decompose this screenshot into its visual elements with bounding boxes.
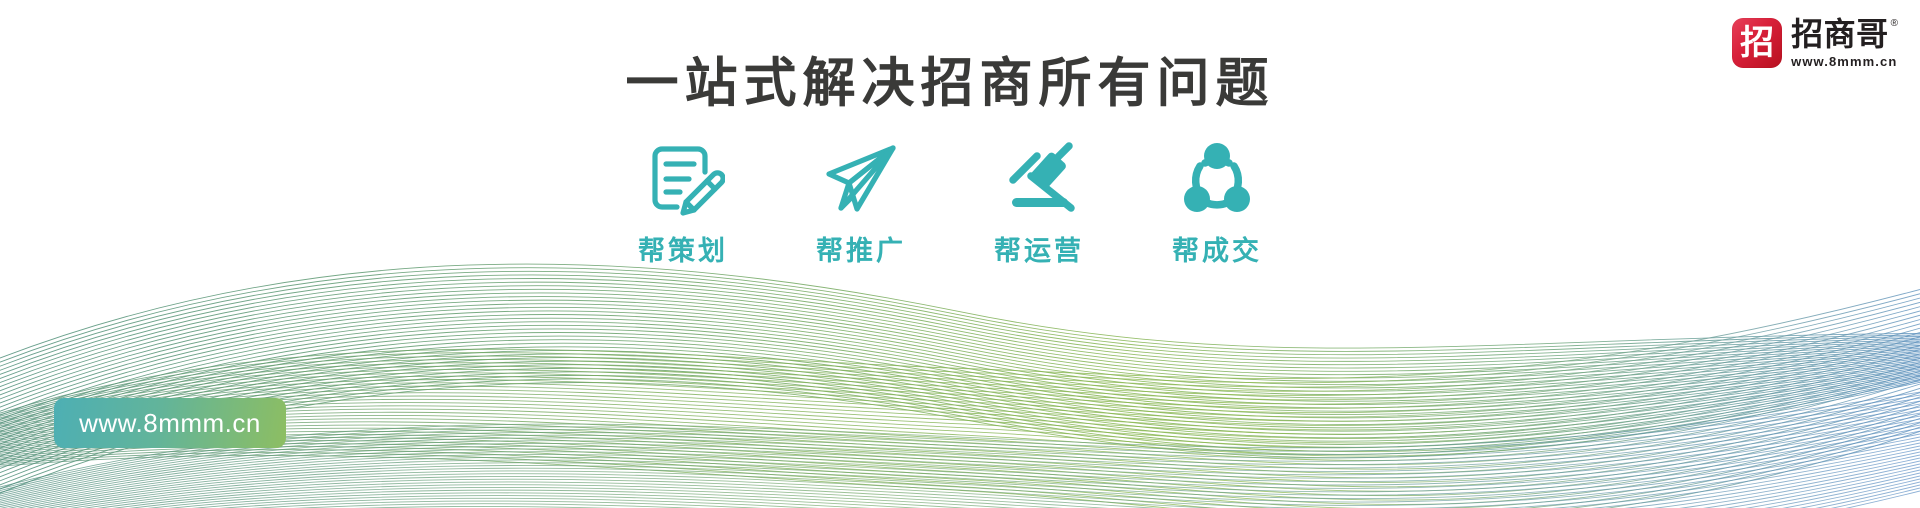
promo-banner: 招 招商哥 ® www.8mmm.cn 一站式解决招商所有问题: [0, 0, 1920, 508]
network-nodes-icon: [1175, 136, 1259, 220]
headline-text: 一站式解决招商所有问题: [626, 52, 1275, 116]
document-pencil-icon: [641, 136, 725, 220]
feature-list: 帮策划 帮推广: [0, 136, 1920, 265]
feature-label: 帮推广: [816, 238, 906, 265]
feature-item-deal[interactable]: 帮成交: [1157, 136, 1277, 265]
registered-trademark-icon: ®: [1891, 19, 1898, 29]
feature-label: 帮运营: [994, 238, 1084, 265]
feature-item-operation[interactable]: 帮运营: [979, 136, 1099, 265]
logo-wordmark-row: 招商哥 ®: [1791, 18, 1898, 50]
feature-item-promotion[interactable]: 帮推广: [801, 136, 921, 265]
feature-label: 帮成交: [1172, 238, 1262, 265]
paper-plane-icon: [819, 136, 903, 220]
page-title: 一站式解决招商所有问题: [0, 52, 1920, 116]
logo-wordmark: 招商哥: [1791, 18, 1889, 50]
website-url-badge[interactable]: www.8mmm.cn: [54, 398, 286, 448]
gavel-icon: [997, 136, 1081, 220]
website-url-text: www.8mmm.cn: [79, 410, 261, 436]
feature-label: 帮策划: [638, 238, 728, 265]
feature-list-inner: 帮策划 帮推广: [623, 136, 1277, 265]
feature-item-planning[interactable]: 帮策划: [623, 136, 743, 265]
